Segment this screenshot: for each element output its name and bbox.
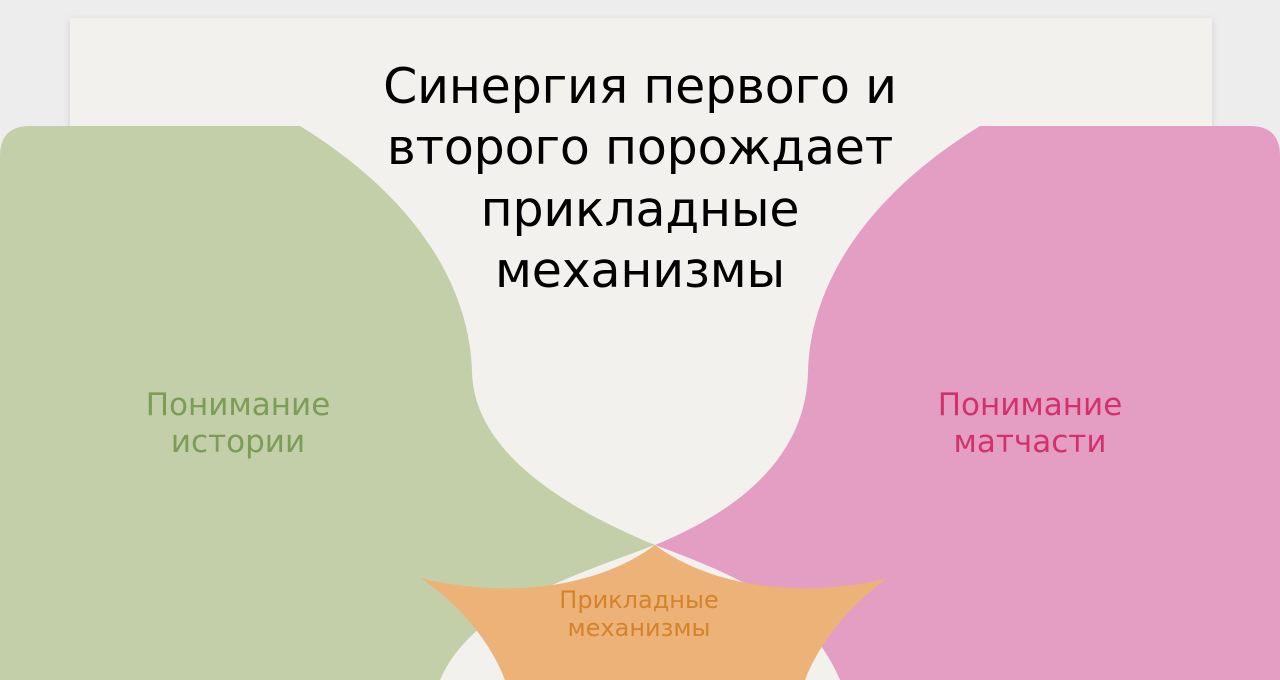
slide-canvas: Синергия первого и второго порождает при… bbox=[0, 0, 1280, 680]
venn-diagram-graphic bbox=[0, 0, 1280, 680]
